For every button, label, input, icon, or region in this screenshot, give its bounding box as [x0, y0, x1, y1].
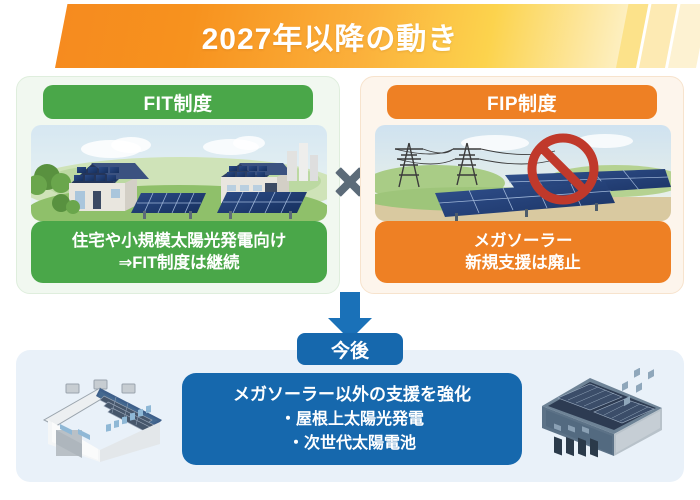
future-bullet-2: ・次世代太陽電池 [288, 432, 416, 456]
residential-solar-illustration [31, 125, 327, 221]
message-box-fip: メガソーラー 新規支援は廃止 [375, 221, 671, 283]
comparison-panel-fit: FIT制度 [16, 76, 340, 294]
warehouse-rooftop-solar-icon [34, 368, 174, 468]
infographic-canvas: 2027年以降の動き FIT制度 [0, 0, 700, 500]
warehouse-svg [34, 368, 174, 468]
residential-solar-svg [31, 125, 327, 221]
message-fip-line1: メガソーラー [474, 230, 573, 252]
title-banner: 2027年以降の動き [0, 4, 700, 68]
commercial-building-rooftop-solar-icon [532, 368, 672, 468]
future-bullet-1: ・屋根上太陽光発電 [280, 408, 424, 432]
future-badge: 今後 [297, 333, 403, 365]
panel-title-fip: FIP制度 [387, 85, 657, 119]
future-message-box: メガソーラー以外の支援を強化 ・屋根上太陽光発電 ・次世代太陽電池 [182, 373, 522, 465]
commercial-building-svg [532, 368, 672, 468]
message-fit-line1: 住宅や小規模太陽光発電向け [72, 230, 287, 252]
message-fit-line2: ⇒FIT制度は継続 [118, 252, 239, 274]
comparison-panel-fip: FIP制度 [360, 76, 684, 294]
message-fip-line2: 新規支援は廃止 [465, 252, 581, 274]
message-box-fit: 住宅や小規模太陽光発電向け ⇒FIT制度は継続 [31, 221, 327, 283]
mega-solar-svg [375, 125, 671, 221]
future-lead-text: メガソーラー以外の支援を強化 [233, 382, 471, 408]
page-title: 2027年以降の動き [0, 4, 700, 68]
mega-solar-illustration [375, 125, 671, 221]
panel-title-fit: FIT制度 [43, 85, 313, 119]
arrow-shaft [340, 292, 360, 320]
